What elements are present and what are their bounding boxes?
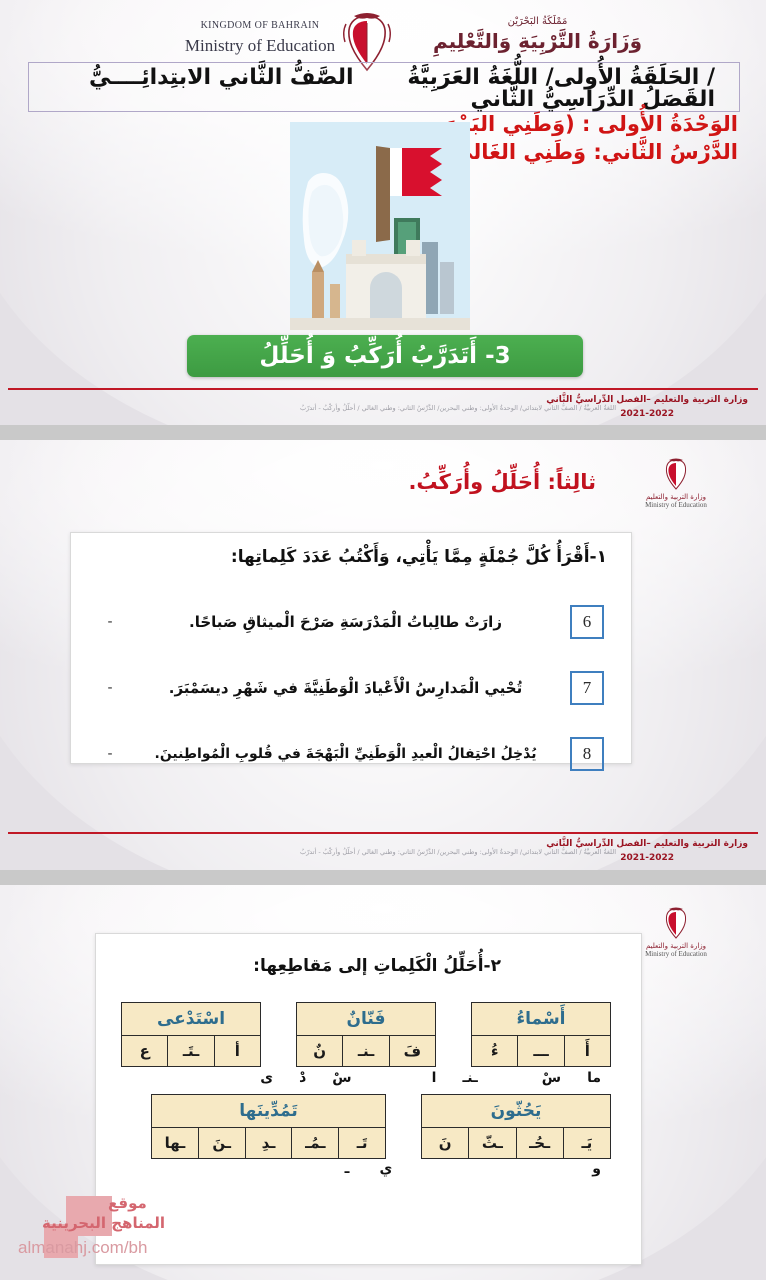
- ministry-label-en: Ministry of Education: [160, 36, 360, 56]
- sentence-text: زارَتْ طالِباتُ الْمَدْرَسَةِ صَرْحَ الْ…: [121, 613, 570, 631]
- kingdom-label-ar: مَمْلَكَةُ البَحْرَيْن: [430, 16, 645, 27]
- answer-token: ى: [260, 1070, 273, 1086]
- syllable-word: أَسْماءُ: [471, 1002, 611, 1036]
- slide-exercise-one: وزارة التربية والتعليم Ministry of Educa…: [0, 440, 766, 870]
- syllable-word: يَحُثّونَ: [421, 1094, 611, 1128]
- syllable-cell[interactable]: ءُ: [472, 1036, 517, 1066]
- watermark-url: almanahj.com/bh: [18, 1238, 147, 1258]
- word-count-answer-box[interactable]: 8: [570, 737, 604, 771]
- syllable-word: تَمُدِّينَها: [151, 1094, 386, 1128]
- unit-title: الوَحْدَةُ الأُولى : (وَطَنِي البَحْرَ: [443, 112, 738, 136]
- sentence-row[interactable]: 6 زارَتْ طالِباتُ الْمَدْرَسَةِ صَرْحَ ا…: [99, 605, 604, 639]
- syllable-cells[interactable]: يَـ ـحُـ ـثّ نَ: [421, 1128, 611, 1159]
- syllable-block[interactable]: اسْتَدْعى أ ـتَـ ع: [121, 1002, 261, 1067]
- watermark-line1: موقع: [108, 1194, 147, 1212]
- slide-gutter: [0, 425, 766, 440]
- syllable-cell[interactable]: ع: [122, 1036, 167, 1066]
- syllable-block[interactable]: تَمُدِّينَها تَـ ـمُـ ـدِ ـنَ ـها: [151, 1094, 386, 1159]
- syllable-word: فَنّانٌ: [296, 1002, 436, 1036]
- syllable-cell[interactable]: ـنـ: [342, 1036, 388, 1066]
- answer-token: دْ: [299, 1070, 306, 1086]
- lesson-banner: 3- أَتَدَرَّبُ أُرَكِّبُ وَ أُحَلِّلُ: [187, 335, 583, 377]
- syllable-cell[interactable]: ـثّ: [468, 1128, 515, 1158]
- syllable-cell[interactable]: أَ: [564, 1036, 610, 1066]
- syllable-cell[interactable]: فَ: [389, 1036, 435, 1066]
- mini-logo-arabic: وزارة التربية والتعليم: [630, 942, 722, 950]
- ministry-mini-logo: وزارة التربية والتعليم Ministry of Educa…: [630, 907, 722, 958]
- slide-exercise-two: وزارة التربية والتعليم Ministry of Educa…: [0, 885, 766, 1280]
- watermark-line2: المناهج البحرينية: [42, 1214, 165, 1232]
- syllable-cell[interactable]: نَ: [422, 1128, 468, 1158]
- bahrain-coat-of-arms-icon: [659, 458, 693, 492]
- syllable-cells[interactable]: فَ ـنـ نٌ: [296, 1036, 436, 1067]
- mini-logo-english: Ministry of Education: [630, 950, 722, 958]
- slide-title-page: KINGDOM OF BAHRAIN Ministry of Education…: [0, 0, 766, 425]
- grade-level: الصَّفُّ الثَّاني الابتِدائِــــيُّ: [89, 65, 354, 90]
- exercise-card: ١-أَقْرَأُ كُلَّ جُمْلَةٍ مِمَّا يَأْتِي…: [70, 532, 632, 764]
- ministry-mini-logo: وزارة التربية والتعليم Ministry of Educa…: [630, 458, 722, 509]
- syllable-block[interactable]: فَنّانٌ فَ ـنـ نٌ: [296, 1002, 436, 1067]
- section-heading: ثالِثاً: أُحَلِّلُ وأُرَكِّبُ.: [408, 470, 596, 494]
- course-title-box: / الحَلَقَةُ الأُولى/ اللُّغَةُ العَرَبِ…: [28, 62, 740, 112]
- handwritten-answers-row: و ي ـ: [131, 1158, 601, 1180]
- ministry-name-arabic: مَمْلَكَةُ البَحْرَيْن وَزَارَةُ التَّرْ…: [430, 16, 645, 53]
- kingdom-label: KINGDOM OF BAHRAIN: [160, 20, 360, 31]
- bullet-dash: -: [99, 614, 121, 630]
- answer-token: ـ: [345, 1161, 350, 1177]
- syllable-cell[interactable]: أ: [214, 1036, 260, 1066]
- syllable-word: اسْتَدْعى: [121, 1002, 261, 1036]
- sentence-row[interactable]: 7 تُحْيي الْمَدارِسُ الْأَعْيادَ الْوَطَ…: [99, 671, 604, 705]
- bahrain-coat-of-arms-icon: [659, 907, 693, 941]
- sentence-text: تُحْيي الْمَدارِسُ الْأَعْيادَ الْوَطَنِ…: [121, 679, 570, 697]
- bullet-dash: -: [99, 680, 121, 696]
- lesson-title: الدَّرْسُ الثَّاني: وَطَنِي الغَالي: [452, 140, 738, 164]
- syllable-block[interactable]: أَسْماءُ أَ ـــ ءُ: [471, 1002, 611, 1067]
- national-day-photo: [290, 122, 470, 330]
- answer-token: ما: [587, 1070, 601, 1086]
- syllable-cell[interactable]: ـها: [152, 1128, 198, 1158]
- semester-label: القَصَلُ الدِّرَاسِيُّ الثَّاني: [471, 87, 715, 112]
- answer-token: و: [592, 1161, 601, 1177]
- syllable-cells[interactable]: تَـ ـمُـ ـدِ ـنَ ـها: [151, 1128, 386, 1159]
- site-watermark: موقع المناهج البحرينية almanahj.com/bh: [14, 1188, 224, 1274]
- syllable-cell[interactable]: ـنَ: [198, 1128, 245, 1158]
- syllable-cell[interactable]: نٌ: [297, 1036, 342, 1066]
- answer-token: سْ: [542, 1070, 561, 1086]
- exercise-instruction: ١-أَقْرَأُ كُلَّ جُمْلَةٍ مِمَّا يَأْتِي…: [231, 547, 607, 567]
- slide-gutter: [0, 870, 766, 885]
- ministry-label-ar: وَزَارَةُ التَّرْبِيَةِ وَالتَّعْلِيمِ: [430, 29, 645, 53]
- answer-token: ـنـ: [462, 1070, 477, 1086]
- footer-breadcrumb: اللغةُ العربيَّةُ / الصفُّ الثاني لابتدا…: [300, 848, 616, 856]
- footer-breadcrumb: اللغةُ العربيَّةُ / الصفُّ الثاني لابتدا…: [300, 404, 616, 412]
- handwritten-answers-row: ما سْ ـنـ ا سْ دْ ى: [131, 1066, 601, 1090]
- footer-divider: [8, 832, 758, 834]
- mini-logo-english: Ministry of Education: [630, 501, 722, 509]
- syllable-cell[interactable]: يَـ: [563, 1128, 610, 1158]
- bullet-dash: -: [99, 746, 121, 762]
- footer-divider: [8, 388, 758, 390]
- syllable-cell[interactable]: ـحُـ: [516, 1128, 563, 1158]
- sentence-row[interactable]: 8 يُدْخِلُ احْتِفالُ الْعيدِ الْوَطَنِيِ…: [99, 737, 604, 771]
- sentence-text: يُدْخِلُ احْتِفالُ الْعيدِ الْوَطَنِيِّ …: [121, 746, 570, 762]
- word-count-answer-box[interactable]: 7: [570, 671, 604, 705]
- syllable-cells[interactable]: أَ ـــ ءُ: [471, 1036, 611, 1067]
- answer-token: ا: [432, 1070, 437, 1086]
- mini-logo-arabic: وزارة التربية والتعليم: [630, 493, 722, 501]
- syllable-block[interactable]: يَحُثّونَ يَـ ـحُـ ـثّ نَ: [421, 1094, 611, 1159]
- ministry-name-english: KINGDOM OF BAHRAIN Ministry of Education: [160, 20, 360, 56]
- syllable-cells[interactable]: أ ـتَـ ع: [121, 1036, 261, 1067]
- answer-token: سْ: [332, 1070, 351, 1086]
- exercise-instruction: ٢-أُحَلِّلُ الْكَلِماتِ إلى مَقاطِعِها:: [253, 956, 501, 976]
- syllable-cell[interactable]: ـــ: [517, 1036, 563, 1066]
- syllable-cell[interactable]: تَـ: [338, 1128, 385, 1158]
- syllable-cell[interactable]: ـمُـ: [291, 1128, 338, 1158]
- syllable-cell[interactable]: ـدِ: [245, 1128, 292, 1158]
- answer-token: ي: [379, 1161, 392, 1177]
- syllable-cell[interactable]: ـتَـ: [167, 1036, 213, 1066]
- word-count-answer-box[interactable]: 6: [570, 605, 604, 639]
